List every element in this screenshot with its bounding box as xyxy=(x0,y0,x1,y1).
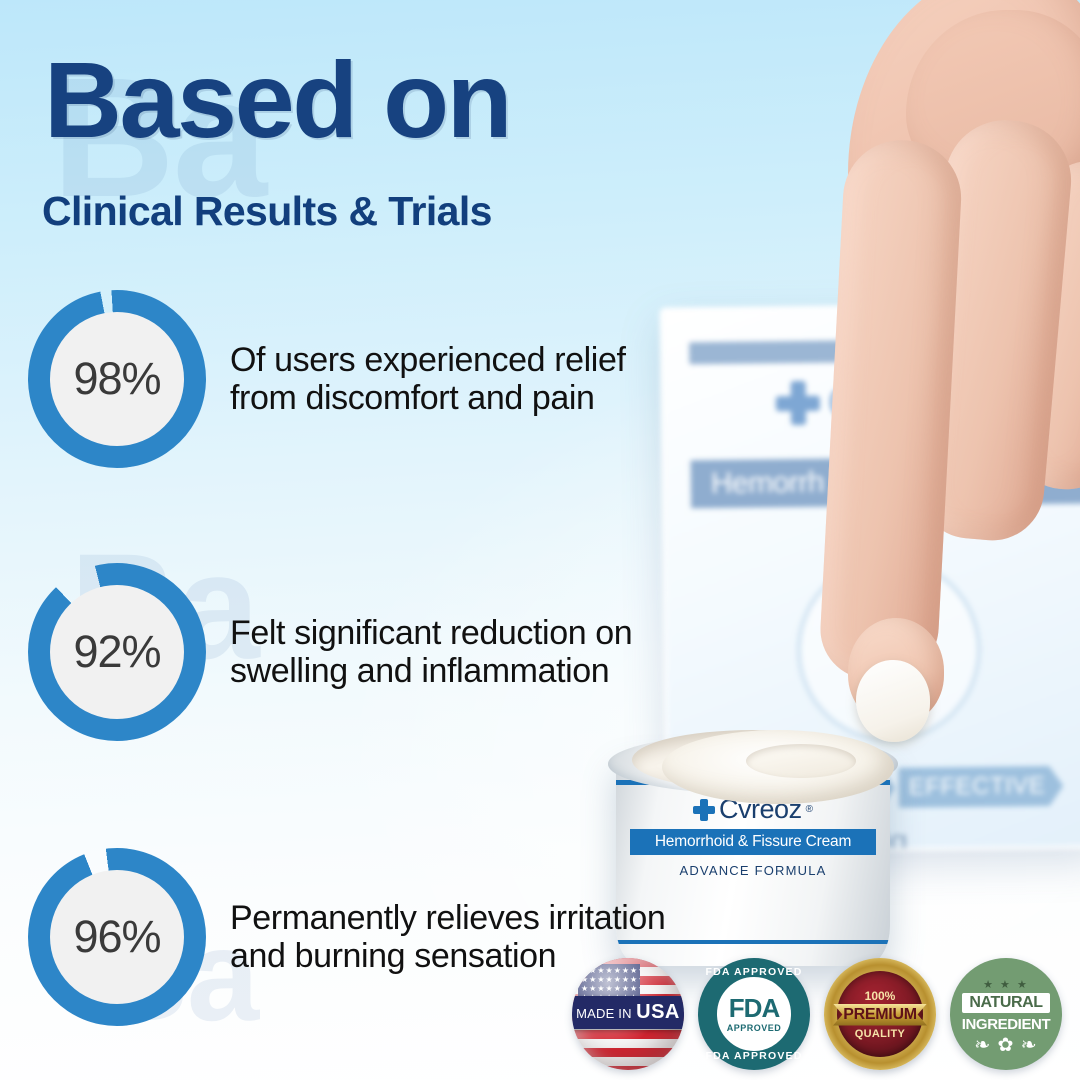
progress-ring: 92% xyxy=(28,563,206,741)
stat-percent-value: 98% xyxy=(73,353,160,405)
promo-graphic: Ba Ba Ba Cvreoz Hemorrh AST EFFECTIVE 30… xyxy=(0,0,1080,1080)
usa-banner: MADE IN USA xyxy=(572,996,684,1029)
natural-ingredient-badge: ★ ★ ★ NATURAL INGREDIENT ❧ ✿ ❧ xyxy=(950,958,1062,1070)
page-title: Based on xyxy=(44,46,510,154)
stat-item: 92% Felt significant reduction on swelli… xyxy=(28,563,700,741)
natural-line1: NATURAL xyxy=(962,993,1049,1013)
certification-badges: ★★★★★★★★★★ ★★★★★★★★★ ★★★★★★★★★★ ★★★★★★★★… xyxy=(572,958,1062,1070)
fda-arc-bottom-text: FDA APPROVED xyxy=(698,1050,810,1062)
box-product-name: Hemorrh xyxy=(711,466,825,501)
fda-center-subtext: APPROVED xyxy=(727,1023,782,1033)
stat-percent-value: 96% xyxy=(73,911,160,963)
registered-mark-icon: ® xyxy=(806,804,813,815)
fda-inner-seal: FDA APPROVED xyxy=(714,974,794,1054)
usa-banner-line2: USA xyxy=(636,1001,680,1023)
hand-knuckle xyxy=(906,10,1080,200)
stat-description: Of users experienced relief from discomf… xyxy=(230,341,670,417)
fda-approved-badge: FDA APPROVED FDA APPROVED FDA APPROVED xyxy=(698,958,810,1070)
medical-cross-icon xyxy=(693,799,715,821)
stat-item: 98% Of users experienced relief from dis… xyxy=(28,290,670,468)
box-arrow-effective: EFFECTIVE xyxy=(899,766,1064,808)
fda-arc-top-text: FDA APPROVED xyxy=(698,966,810,978)
premium-quality-text: QUALITY xyxy=(855,1028,905,1040)
medical-cross-icon xyxy=(776,381,821,426)
progress-ring-center: 92% xyxy=(50,585,184,719)
page-subtitle: Clinical Results & Trials xyxy=(42,188,492,235)
stat-description: Felt significant reduction on swelling a… xyxy=(230,614,700,690)
usa-banner-line1: MADE IN xyxy=(576,1006,632,1021)
progress-ring-center: 96% xyxy=(50,870,184,1004)
box-product-band: Hemorrh xyxy=(691,455,1080,508)
leaf-icon: ❧ ✿ ❧ xyxy=(974,1034,1037,1057)
progress-ring-center: 98% xyxy=(50,312,184,446)
natural-stars-icon: ★ ★ ★ xyxy=(983,978,1029,991)
jar-cream-swirl xyxy=(746,744,856,778)
jar-cream-surface xyxy=(662,730,894,804)
hand-palm xyxy=(848,0,1080,310)
progress-ring: 96% xyxy=(28,848,206,1026)
fda-center-text: FDA xyxy=(729,995,779,1021)
natural-line2: INGREDIENT xyxy=(962,1016,1051,1033)
premium-ribbon-text: PREMIUM xyxy=(833,1004,927,1026)
stat-percent-value: 92% xyxy=(73,626,160,678)
made-in-usa-badge: ★★★★★★★★★★ ★★★★★★★★★ ★★★★★★★★★★ ★★★★★★★★… xyxy=(572,958,684,1070)
premium-quality-badge: 100% PREMIUM QUALITY xyxy=(824,958,936,1070)
premium-inner-medallion: 100% PREMIUM QUALITY xyxy=(837,971,923,1057)
box-top-bar xyxy=(689,338,1069,365)
progress-ring: 98% xyxy=(28,290,206,468)
premium-percent-text: 100% xyxy=(865,989,896,1003)
box-brand-name: Cvreoz xyxy=(828,377,956,427)
box-logo: Cvreoz xyxy=(776,377,956,427)
